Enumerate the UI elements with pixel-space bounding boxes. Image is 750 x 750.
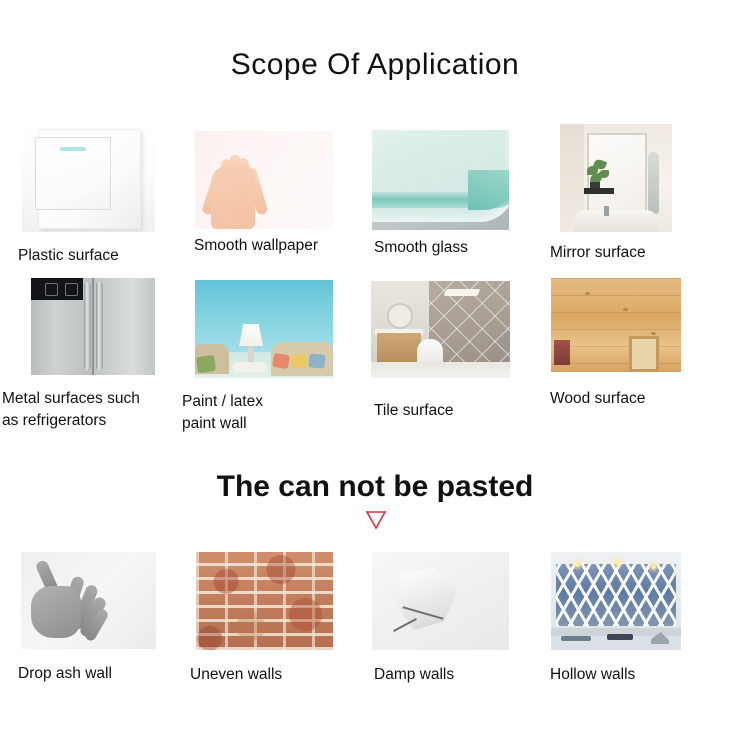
grid-item-tile-surface: Tile surface xyxy=(352,278,528,435)
grid-item-hollow-walls: Hollow walls xyxy=(528,552,704,686)
bathroom-mirror-photo xyxy=(560,124,672,232)
grid-item-label: Mirror surface xyxy=(528,242,704,264)
grid-item-paint-latex-wall: Paint / latex paint wall xyxy=(176,278,352,435)
grid-item-label: Drop ash wall xyxy=(0,663,176,685)
hand-on-wallpaper-photo xyxy=(195,131,333,229)
grid-item-plastic-surface: Plastic surface xyxy=(0,124,176,267)
grid-item-drop-ash-wall: Drop ash wall xyxy=(0,552,176,686)
grid-item-label-line-1: Metal surfaces such xyxy=(2,390,140,407)
grid-item-label: Uneven walls xyxy=(176,664,352,686)
grid-item-label: Hollow walls xyxy=(528,664,704,686)
grid-item-metal-surfaces: Metal surfaces such as refrigerators xyxy=(0,278,176,435)
scope-row-1: Plastic surface Smooth wallpaper Smooth … xyxy=(0,124,750,267)
bathroom-tile-wall-photo xyxy=(371,281,510,378)
page-title-can-not-be-pasted: The can not be pasted xyxy=(0,470,750,504)
grid-item-label: Metal surfaces such as refrigerators xyxy=(0,388,176,432)
grid-item-label: Tile surface xyxy=(352,400,528,422)
grid-item-label: Smooth glass xyxy=(352,237,528,259)
brick-wall-photo xyxy=(196,552,333,650)
plastic-light-switch-photo xyxy=(22,124,155,232)
teal-painted-wall-room-photo xyxy=(195,280,333,378)
grid-item-damp-walls: Damp walls xyxy=(352,552,528,686)
grid-item-mirror-surface: Mirror surface xyxy=(528,124,704,267)
grid-item-uneven-walls: Uneven walls xyxy=(176,552,352,686)
scope-row-2: Metal surfaces such as refrigerators Pai… xyxy=(0,278,750,435)
grid-item-label-line-1: Paint / latex xyxy=(182,393,263,410)
wood-plank-wall-photo xyxy=(551,278,681,372)
grid-item-label-line-2: as refrigerators xyxy=(2,412,106,429)
ash-covered-hand-photo xyxy=(21,552,156,649)
grid-item-label-line-2: paint wall xyxy=(182,415,247,432)
grid-item-label: Wood surface xyxy=(528,388,704,410)
grid-item-label: Plastic surface xyxy=(0,245,176,267)
grid-item-label: Smooth wallpaper xyxy=(176,235,352,257)
grid-item-wood-surface: Wood surface xyxy=(528,278,704,435)
glass-sheet-corner-photo xyxy=(372,130,509,230)
warning-triangle-down-icon xyxy=(365,510,387,530)
grid-item-label: Paint / latex paint wall xyxy=(176,391,352,435)
grid-item-label: Damp walls xyxy=(352,664,528,686)
cannot-paste-row-1: Drop ash wall Uneven walls Damp walls xyxy=(0,552,750,686)
page-title-scope-of-application: Scope Of Application xyxy=(0,48,750,82)
grid-item-smooth-glass: Smooth glass xyxy=(352,124,528,267)
grid-item-smooth-wallpaper: Smooth wallpaper xyxy=(176,124,352,267)
lattice-partition-wall-photo xyxy=(551,552,681,650)
peeling-damp-wall-photo xyxy=(372,552,509,650)
stainless-refrigerator-photo xyxy=(22,278,155,375)
